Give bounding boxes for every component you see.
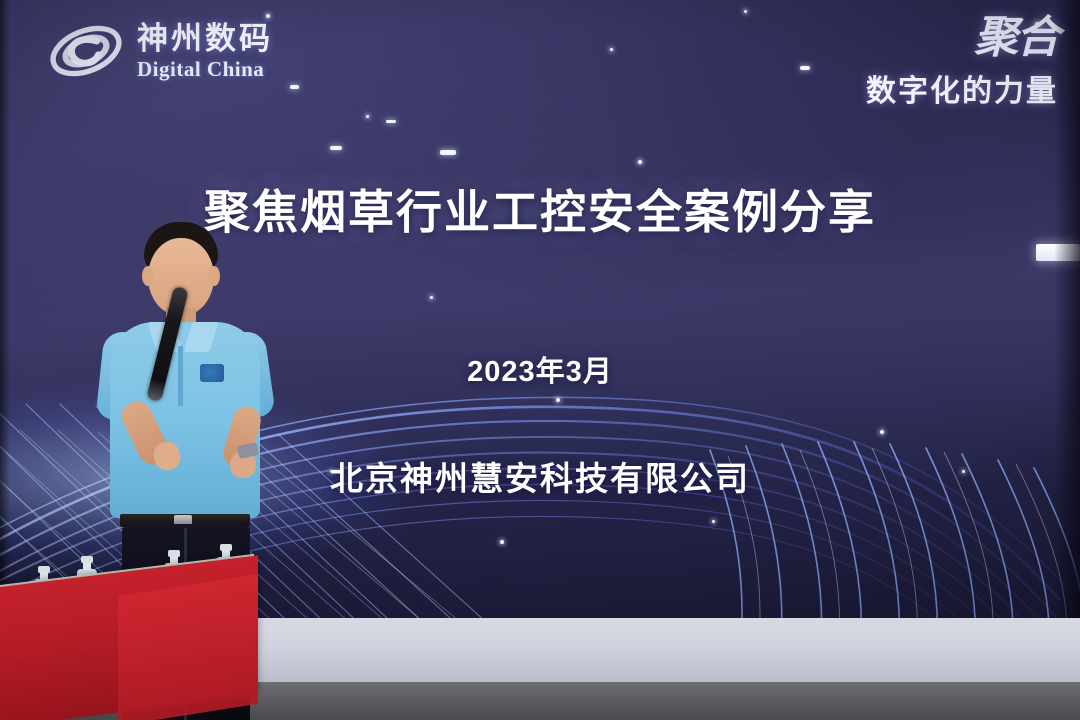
speaker-shirt-placket [178,346,183,406]
brand-logo: 神州数码 Digital China [47,18,273,84]
screen-right-edge [1054,0,1080,632]
swirl-galaxy-logo-icon [47,18,125,84]
shirt-logo-badge [200,364,224,382]
campaign-logo: 聚合 数字化的力量 [866,16,1058,110]
brand-name-cn: 神州数码 [137,23,273,54]
speaker-ear-left [142,266,154,286]
campaign-mark-cn: 聚合 [866,16,1058,60]
brand-name-en: Digital China [137,59,273,80]
campaign-subtitle-cn: 数字化的力量 [866,66,1058,110]
screen-left-edge [0,0,10,632]
table-skirt-fold [118,574,258,720]
conference-stage-photo: 神州数码 Digital China 聚合 数字化的力量 聚焦烟草行业工控安全案… [0,0,1080,720]
speaker-ear-right [208,266,220,286]
